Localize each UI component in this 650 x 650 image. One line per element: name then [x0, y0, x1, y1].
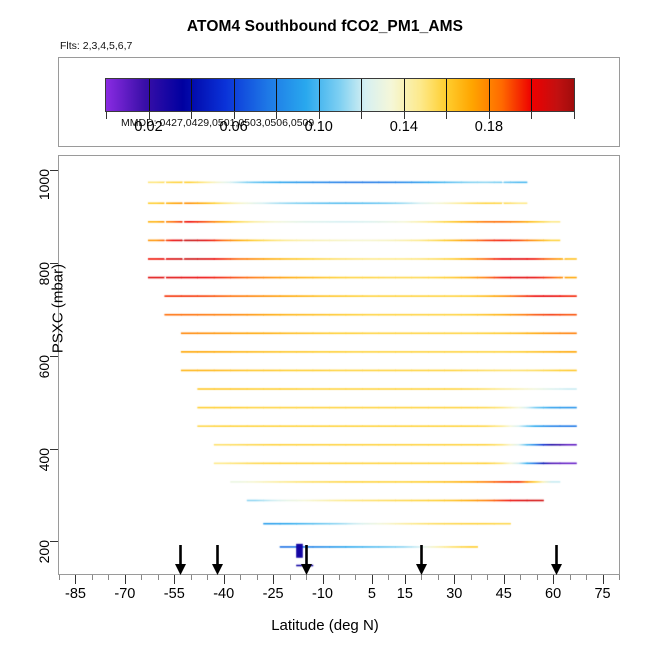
flights-annotation: Flts: 2,3,4,5,6,7 — [60, 40, 132, 52]
colorbar-tick-label: 0.06 — [220, 119, 248, 135]
x-axis-tick-label: -70 — [114, 586, 135, 602]
latitude-arrow-marker — [211, 545, 224, 575]
x-axis-tick-minor — [158, 575, 159, 580]
y-axis-tick-label: 800 — [36, 262, 52, 312]
colorbar-tick-label: 0.10 — [305, 119, 333, 135]
x-axis-tick-minor — [586, 575, 587, 580]
x-axis-tick-minor — [570, 575, 571, 580]
colorbar — [105, 78, 575, 112]
x-axis-tick-major — [553, 575, 554, 584]
colorbar-ticks — [105, 112, 575, 119]
x-axis-tick-major — [603, 575, 604, 584]
x-axis-tick-major — [174, 575, 175, 584]
x-axis-tick-minor — [207, 575, 208, 580]
x-axis-tick-label: -55 — [164, 586, 185, 602]
x-axis-tick-label: 60 — [545, 586, 561, 602]
latitude-arrow-marker — [550, 545, 563, 575]
colorbar-tick-label: 0.02 — [134, 119, 162, 135]
x-axis-tick-minor — [619, 575, 620, 580]
x-axis-tick-label: 5 — [368, 586, 376, 602]
x-axis-label: Latitude (deg N) — [0, 617, 650, 634]
x-axis-tick-minor — [306, 575, 307, 580]
x-axis-tick-label: 30 — [446, 586, 462, 602]
x-axis-tick-label: -40 — [213, 586, 234, 602]
x-axis-tick-minor — [421, 575, 422, 580]
x-axis-tick-minor — [339, 575, 340, 580]
y-axis-tick-label: 400 — [36, 448, 52, 498]
x-axis-tick-minor — [438, 575, 439, 580]
x-axis-tick-minor — [355, 575, 356, 580]
x-axis-tick-major — [405, 575, 406, 584]
x-axis-tick-label: -25 — [263, 586, 284, 602]
y-axis-tick-label: 200 — [36, 540, 52, 590]
x-axis-tick-label: 45 — [496, 586, 512, 602]
y-axis-label: PSXC (mbar) — [50, 209, 67, 409]
x-axis-tick-minor — [108, 575, 109, 580]
x-axis-tick-minor — [537, 575, 538, 580]
latitude-arrow-marker — [300, 545, 313, 575]
x-axis-tick-minor — [487, 575, 488, 580]
heatmap-area — [59, 156, 619, 574]
x-axis-tick-major — [75, 575, 76, 584]
colorbar-tick-label: 0.18 — [475, 119, 503, 135]
x-axis-tick-minor — [520, 575, 521, 580]
x-axis-tick-label: 75 — [594, 586, 610, 602]
y-axis-tick-label: 600 — [36, 355, 52, 405]
plot-root: { "title": "ATOM4 Southbound fCO2_PM1_AM… — [0, 0, 650, 650]
x-axis-tick-major — [454, 575, 455, 584]
colorbar-tick-label: 0.14 — [390, 119, 418, 135]
x-axis-tick-minor — [471, 575, 472, 580]
x-axis-tick-minor — [141, 575, 142, 580]
x-axis-tick-label: 15 — [397, 586, 413, 602]
x-axis-tick-label: -85 — [65, 586, 86, 602]
x-axis-tick-label: -10 — [312, 586, 333, 602]
x-axis-tick-minor — [257, 575, 258, 580]
x-axis-tick-major — [323, 575, 324, 584]
x-axis-tick-minor — [59, 575, 60, 580]
x-axis-tick-major — [224, 575, 225, 584]
x-axis-tick-minor — [240, 575, 241, 580]
y-axis-tick-label: 1000 — [36, 169, 52, 219]
x-axis-tick-major — [504, 575, 505, 584]
colorbar-tick-labels: 0.020.060.100.140.18 — [0, 119, 650, 139]
chart-title: ATOM4 Southbound fCO2_PM1_AMS — [0, 18, 650, 36]
latitude-arrow-marker — [174, 545, 187, 575]
x-axis-tick-major — [273, 575, 274, 584]
colorbar-segment-lines — [106, 79, 574, 111]
x-axis-tick-minor — [290, 575, 291, 580]
x-axis-tick-major — [125, 575, 126, 584]
x-axis-tick-minor — [92, 575, 93, 580]
x-axis-tick-minor — [388, 575, 389, 580]
x-axis-tick-major — [372, 575, 373, 584]
latitude-arrow-marker — [415, 545, 428, 575]
x-axis-tick-minor — [191, 575, 192, 580]
